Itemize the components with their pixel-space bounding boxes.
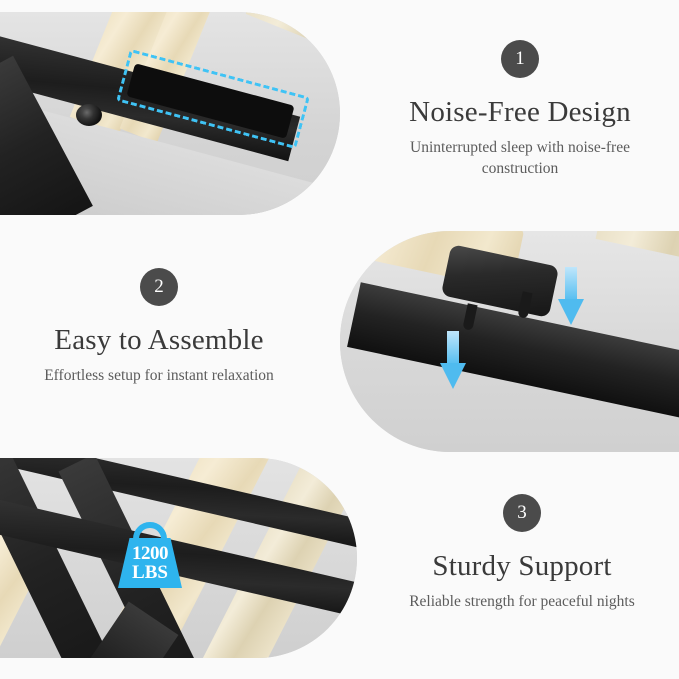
photo-slat-cap-assembly [340, 231, 679, 452]
feature-text-easy-assemble: 2 Easy to Assemble Effortless setup for … [8, 268, 310, 386]
feature-image-noise-free [0, 12, 340, 215]
feature-subtitle-3: Reliable strength for peaceful nights [372, 591, 672, 612]
step-number-badge-3: 3 [503, 494, 541, 532]
weight-unit: LBS [132, 563, 168, 582]
feature-text-sturdy-support: 3 Sturdy Support Reliable strength for p… [372, 494, 672, 612]
weight-badge-body: 1200 LBS [118, 538, 182, 588]
product-feature-infographic: 1 Noise-Free Design Uninterrupted sleep … [0, 0, 679, 679]
feature-title-2: Easy to Assemble [8, 324, 310, 357]
photo-bed-frame-joint [0, 12, 340, 215]
step-number-badge-2: 2 [140, 268, 178, 306]
feature-subtitle-2: Effortless setup for instant relaxation [8, 365, 310, 386]
step-number-badge-1: 1 [501, 40, 539, 78]
feature-text-noise-free: 1 Noise-Free Design Uninterrupted sleep … [370, 40, 670, 180]
weight-value: 1200 [132, 544, 168, 563]
feature-image-easy-assemble [340, 231, 679, 452]
feature-title-3: Sturdy Support [372, 550, 672, 583]
feature-subtitle-1: Uninterrupted sleep with noise-free cons… [370, 137, 670, 180]
down-arrow-icon [558, 267, 584, 325]
down-arrow-icon [440, 331, 466, 389]
weight-capacity-icon: 1200 LBS [118, 522, 182, 588]
feature-title-1: Noise-Free Design [370, 96, 670, 129]
